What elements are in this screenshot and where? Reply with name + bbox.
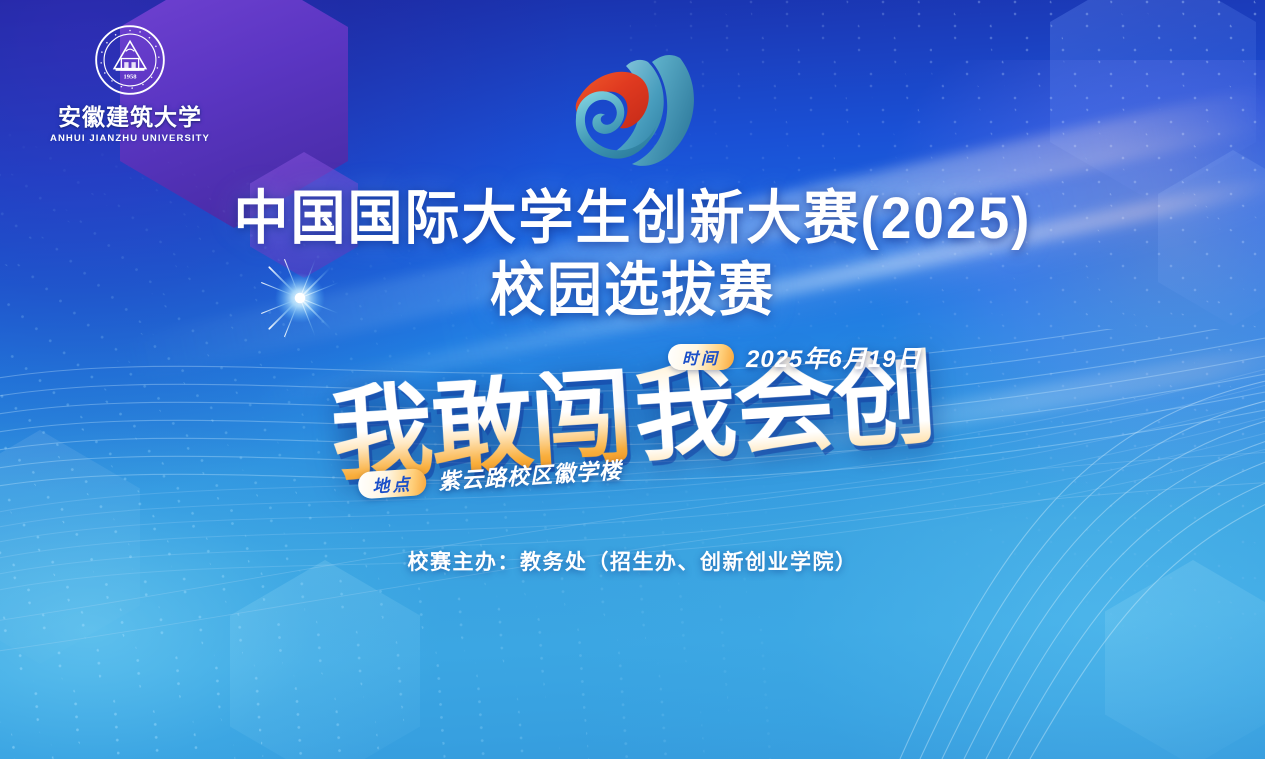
seal-year: 1958 <box>124 74 138 81</box>
slogan-block: 我敢闯 我会创 <box>0 312 1265 521</box>
cyan-hexagon-bottom-right <box>1105 560 1265 759</box>
place-label-badge: 地点 <box>357 468 427 499</box>
time-label-badge: 时间 <box>668 344 734 370</box>
event-time-row: 时间 2025年6月19日 <box>668 339 921 374</box>
time-value: 2025年6月19日 <box>746 339 921 374</box>
university-logo: 1958 安徽建筑大学 ANHUI JIANZHU UNIVERSITY <box>50 24 210 144</box>
university-name-en: ANHUI JIANZHU UNIVERSITY <box>50 133 210 144</box>
competition-spiral-emblem-icon <box>552 52 714 170</box>
event-poster-banner: 1958 安徽建筑大学 ANHUI JIANZHU UNIVERSITY <box>0 0 1265 759</box>
university-seal-icon: 1958 <box>93 24 167 96</box>
cyan-hexagon-bottom-left <box>230 560 420 759</box>
organizer-line: 校赛主办：教务处（招生办、创新创业学院） <box>0 546 1265 576</box>
university-name-cn: 安徽建筑大学 <box>58 98 202 132</box>
blue-hexagon-top-right <box>1050 0 1256 202</box>
title-line-1: 中国国际大学生创新大赛(2025) <box>0 186 1265 251</box>
title-line-2: 校园选拔赛 <box>0 258 1265 323</box>
title-block: 中国国际大学生创新大赛(2025) 校园选拔赛 <box>0 188 1265 321</box>
